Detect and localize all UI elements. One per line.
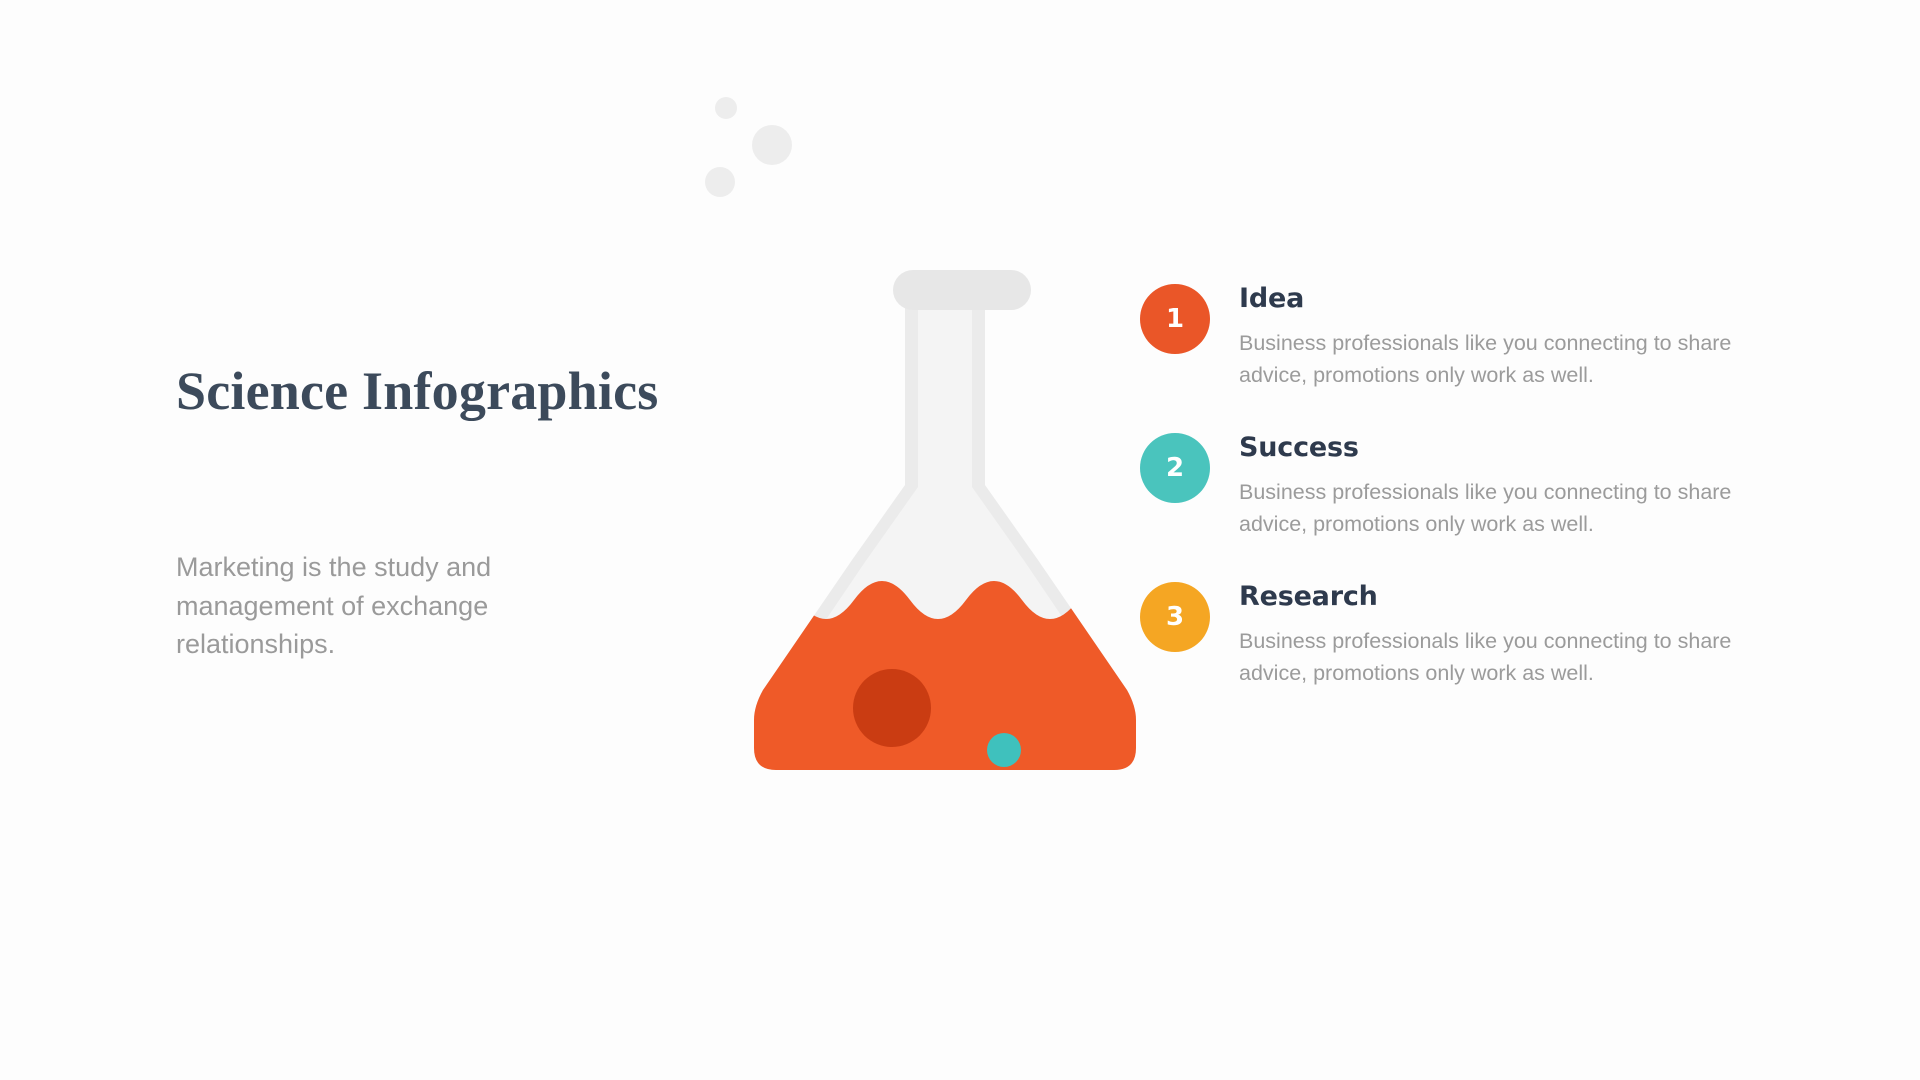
slide-canvas: Science Infographics Marketing is the st… <box>0 0 1920 1080</box>
step-number-1: 1 <box>1166 306 1184 332</box>
step-number-3: 3 <box>1166 604 1184 630</box>
bubble-amber-icon <box>928 778 972 822</box>
step-badge-2: 2 <box>1140 433 1210 503</box>
bubble-small-bottom-icon <box>705 167 735 197</box>
step-text-1: Idea Business professionals like you con… <box>1239 282 1800 391</box>
step-description-2: Business professionals like you connecti… <box>1239 476 1739 541</box>
step-title-1: Idea <box>1239 284 1800 314</box>
step-item-2[interactable]: 2 Success Business professionals like yo… <box>1140 431 1800 540</box>
bubble-small-top-icon <box>715 97 737 119</box>
slide-subtitle: Marketing is the study and management of… <box>176 548 596 664</box>
step-badge-1: 1 <box>1140 284 1210 354</box>
step-description-1: Business professionals like you connecti… <box>1239 327 1739 392</box>
page-title: Science Infographics <box>176 360 636 422</box>
step-description-3: Business professionals like you connecti… <box>1239 625 1739 690</box>
bubble-large-icon <box>752 125 792 165</box>
bubble-dark-red-icon <box>853 669 931 747</box>
step-text-2: Success Business professionals like you … <box>1239 431 1800 540</box>
steps-list: 1 Idea Business professionals like you c… <box>1140 282 1800 690</box>
step-badge-3: 3 <box>1140 582 1210 652</box>
bubble-teal-icon <box>987 733 1021 767</box>
step-text-3: Research Business professionals like you… <box>1239 580 1800 689</box>
step-item-3[interactable]: 3 Research Business professionals like y… <box>1140 580 1800 689</box>
step-number-2: 2 <box>1166 455 1184 481</box>
step-item-1[interactable]: 1 Idea Business professionals like you c… <box>1140 282 1800 391</box>
flask-illustration <box>640 90 1160 1010</box>
flask-rim <box>893 270 1031 310</box>
left-text-column: Science Infographics Marketing is the st… <box>176 360 636 422</box>
step-title-2: Success <box>1239 433 1800 463</box>
step-title-3: Research <box>1239 582 1800 612</box>
